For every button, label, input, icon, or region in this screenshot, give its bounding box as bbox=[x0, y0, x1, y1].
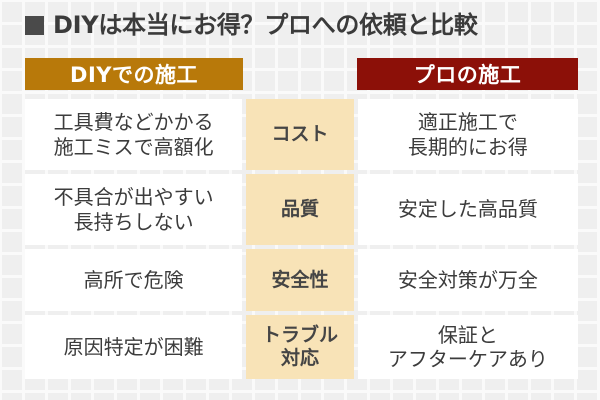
pro-cell-line1: 安全対策が万全 bbox=[398, 268, 538, 292]
table-row: 原因特定が困難 トラブル 対応 保証と アフターケアあり bbox=[0, 315, 600, 379]
criterion-label: 安全性 bbox=[272, 269, 329, 292]
table-row: 不具合が出やすい 長持ちしない 品質 安定した高品質 bbox=[0, 174, 600, 245]
square-bullet-icon bbox=[25, 16, 44, 35]
criterion-label: 品質 bbox=[281, 198, 319, 221]
pro-cell-line2: 長期的にお得 bbox=[408, 135, 528, 159]
pro-cell: 安定した高品質 bbox=[358, 174, 578, 245]
pro-cell: 安全対策が万全 bbox=[358, 249, 578, 311]
diy-cell: 不具合が出やすい 長持ちしない bbox=[25, 174, 242, 245]
pro-cell: 保証と アフターケアあり bbox=[358, 315, 578, 379]
column-header-pro: プロの施工 bbox=[357, 58, 578, 90]
criterion-label-line1: トラブル bbox=[262, 324, 338, 347]
criterion-cell: トラブル 対応 bbox=[246, 315, 354, 379]
pro-cell-line1: 適正施工で bbox=[408, 110, 528, 134]
pro-cell-line2: アフターケアあり bbox=[388, 347, 548, 371]
criterion-cell: 安全性 bbox=[246, 249, 354, 311]
diy-cell: 工具費などかかる 施工ミスで高額化 bbox=[25, 99, 242, 170]
diy-cell-line1: 高所で危険 bbox=[84, 268, 184, 292]
table-row: 高所で危険 安全性 安全対策が万全 bbox=[0, 249, 600, 311]
comparison-table: 工具費などかかる 施工ミスで高額化 コスト 適正施工で 長期的にお得 不具合が出… bbox=[0, 99, 600, 383]
diy-cell-line1: 原因特定が困難 bbox=[64, 335, 204, 359]
pro-cell-line1: 保証と bbox=[388, 323, 548, 347]
column-header-diy-label: DIYでの施工 bbox=[70, 59, 198, 89]
criterion-cell: コスト bbox=[246, 99, 354, 170]
diy-cell-line1: 不具合が出やすい bbox=[54, 185, 214, 209]
column-header-pro-label: プロの施工 bbox=[414, 59, 522, 89]
diy-cell-line2: 長持ちしない bbox=[54, 210, 214, 234]
diy-cell-line2: 施工ミスで高額化 bbox=[54, 135, 214, 159]
diy-cell: 原因特定が困難 bbox=[25, 315, 242, 379]
pro-cell: 適正施工で 長期的にお得 bbox=[358, 99, 578, 170]
criterion-label-line2: 対応 bbox=[262, 347, 338, 370]
diy-cell: 高所で危険 bbox=[25, 249, 242, 311]
criterion-label: コスト bbox=[272, 123, 329, 146]
table-row: 工具費などかかる 施工ミスで高額化 コスト 適正施工で 長期的にお得 bbox=[0, 99, 600, 170]
column-header-diy: DIYでの施工 bbox=[25, 58, 243, 90]
page-title-text: DIYは本当にお得？プロへの依頼と比較 bbox=[53, 13, 478, 37]
comparison-infographic: DIYは本当にお得？プロへの依頼と比較 DIYでの施工 プロの施工 工具費などか… bbox=[0, 0, 600, 400]
page-title: DIYは本当にお得？プロへの依頼と比較 bbox=[25, 13, 478, 37]
pro-cell-line1: 安定した高品質 bbox=[398, 197, 538, 221]
criterion-cell: 品質 bbox=[246, 174, 354, 245]
diy-cell-line1: 工具費などかかる bbox=[54, 110, 214, 134]
